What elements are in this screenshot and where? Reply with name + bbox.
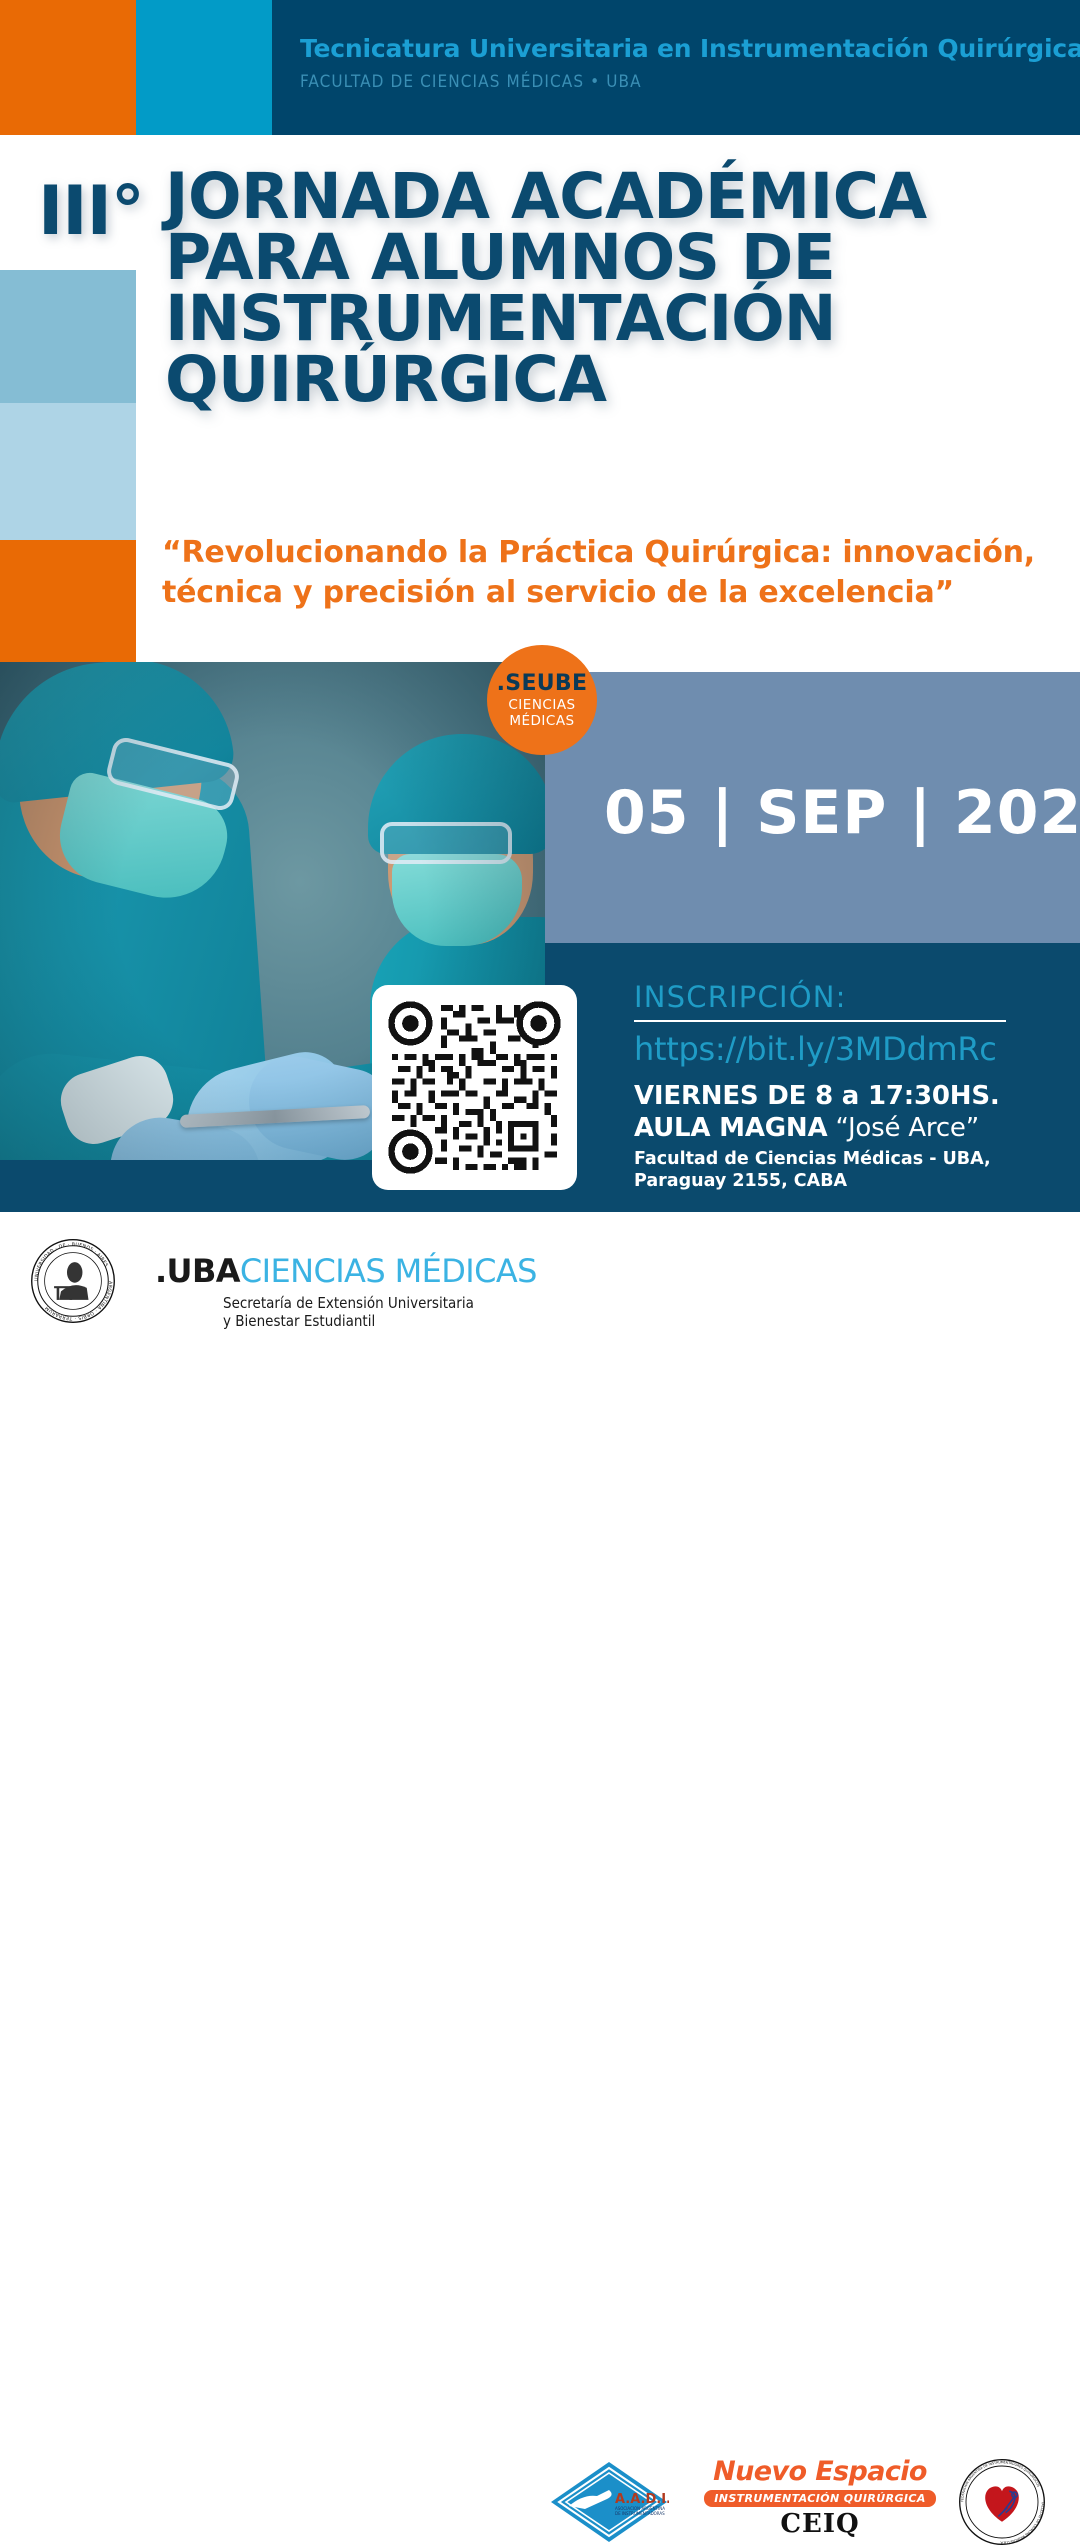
uba-wordmark: .UBACIENCIAS MÉDICAS Secretaría de Exten… bbox=[155, 1252, 537, 1331]
subtitle-line-1: “Revolucionando la Práctica Quirúrgica: … bbox=[162, 533, 1032, 573]
event-address: Facultad de Ciencias Médicas - UBA, Para… bbox=[634, 1148, 1064, 1193]
uba-department: Secretaría de Extensión Universitaria y … bbox=[223, 1294, 537, 1331]
qr-code-svg bbox=[386, 999, 563, 1176]
nuevo-espacio-subtitle: INSTRUMENTACIÓN QUIRÚRGICA bbox=[704, 2490, 936, 2507]
ceiq-acronym: CEIQ bbox=[700, 2509, 940, 2539]
accent-block-light-blue bbox=[0, 403, 136, 540]
title-line-3: INSTRUMENTACIÓN bbox=[165, 288, 1045, 349]
event-date: 05 | SEP | 2025 bbox=[604, 778, 1080, 848]
inscription-divider bbox=[634, 1020, 1006, 1022]
title-line-4: QUIRÚRGICA bbox=[165, 349, 1045, 410]
page-title: JORNADA ACADÉMICA PARA ALUMNOS DE INSTRU… bbox=[165, 166, 1045, 410]
seube-brand: .SEUBE bbox=[497, 671, 588, 696]
nuevo-espacio-title: Nuevo Espacio bbox=[700, 2456, 940, 2487]
title-line-1: JORNADA ACADÉMICA bbox=[165, 166, 1045, 227]
uba-department-line-1: Secretaría de Extensión Universitaria bbox=[223, 1294, 537, 1312]
subtitle-quote: “Revolucionando la Práctica Quirúrgica: … bbox=[162, 533, 1032, 613]
uba-department-line-2: y Bienestar Estudiantil bbox=[223, 1312, 537, 1330]
svg-text:A.A.D.I.: A.A.D.I. bbox=[615, 2492, 669, 2507]
poster-header: Tecnicatura Universitaria en Instrumenta… bbox=[0, 0, 1080, 135]
accent-block-orange bbox=[0, 540, 136, 662]
address-line-1: Facultad de Ciencias Médicas - UBA, bbox=[634, 1148, 1064, 1170]
seube-badge: .SEUBE CIENCIAS MÉDICAS bbox=[487, 645, 597, 755]
header-cyan-block bbox=[136, 0, 272, 135]
seube-line-2: CIENCIAS bbox=[508, 698, 575, 713]
header-orange-block bbox=[0, 0, 136, 135]
ceiq-heart-logo-icon: FEDERACION ARGENTINA DE INSTRUMENTADORES… bbox=[957, 2457, 1047, 2547]
venue-name: AULA MAGNA bbox=[634, 1113, 827, 1143]
title-line-2: PARA ALUMNOS DE bbox=[165, 227, 1045, 288]
uba-brand-line: .UBACIENCIAS MÉDICAS bbox=[155, 1252, 537, 1290]
address-line-2: Paraguay 2155, CABA bbox=[634, 1170, 1064, 1192]
header-text-group: Tecnicatura Universitaria en Instrumenta… bbox=[300, 34, 1080, 92]
inscription-url[interactable]: https://bit.ly/3MDdmRc bbox=[634, 1030, 1064, 1068]
event-schedule: VIERNES DE 8 a 17:30HS. bbox=[634, 1081, 1064, 1111]
uba-seal-icon: UNIVERSIDAD · DE · BUENOS · AIRES ARGENT… bbox=[30, 1238, 116, 1324]
nuevo-espacio-logo: Nuevo Espacio INSTRUMENTACIÓN QUIRÚRGICA… bbox=[700, 2456, 940, 2539]
qr-code[interactable] bbox=[372, 985, 577, 1190]
poster-root: Tecnicatura Universitaria en Instrumenta… bbox=[0, 0, 1080, 1350]
footer-logo-bar: UNIVERSIDAD · DE · BUENOS · AIRES ARGENT… bbox=[0, 1212, 1080, 1350]
edition-ordinal: III° bbox=[38, 172, 144, 251]
aadi-logo-icon: A.A.D.I. ASOCIACION ARGENTINA DE INSTRUM… bbox=[549, 2460, 669, 2545]
venue-nickname: “José Arce” bbox=[835, 1113, 979, 1143]
uba-brand-light: CIENCIAS MÉDICAS bbox=[240, 1252, 537, 1290]
seube-line-3: MÉDICAS bbox=[509, 714, 574, 729]
inscription-label: INSCRIPCIÓN: bbox=[634, 980, 1064, 1014]
svg-text:DE INSTRUMENTADORAS: DE INSTRUMENTADORAS bbox=[615, 2511, 665, 2516]
subtitle-line-2: técnica y precisión al servicio de la ex… bbox=[162, 573, 1032, 613]
accent-block-medium-blue bbox=[0, 270, 136, 403]
event-venue: AULA MAGNA “José Arce” bbox=[634, 1113, 1064, 1143]
faculty-line: FACULTAD DE CIENCIAS MÉDICAS • UBA bbox=[300, 72, 1080, 92]
program-title: Tecnicatura Universitaria en Instrumenta… bbox=[300, 34, 1080, 63]
uba-brand-dark: .UBA bbox=[155, 1252, 240, 1290]
inscription-block: INSCRIPCIÓN: https://bit.ly/3MDdmRc VIER… bbox=[634, 980, 1064, 1193]
